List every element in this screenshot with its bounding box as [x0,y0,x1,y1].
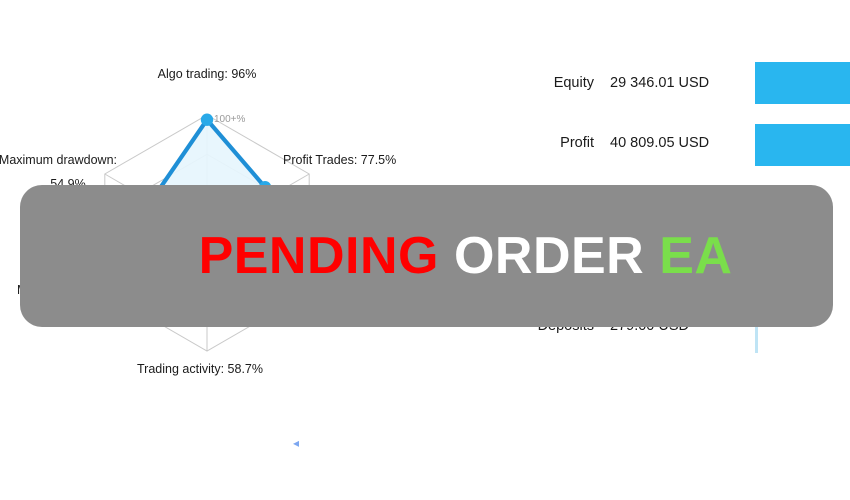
watermark-word-order: ORDER [454,227,644,285]
stat-value-equity: 29 346.01 USD [610,75,760,91]
radar-label-profit-trades: Profit Trades: 77.5% [283,153,396,167]
stat-row-profit: Profit 40 809.05 USD [470,128,760,158]
watermark-text: PENDING ORDER EA [199,230,733,282]
stat-label-profit: Profit [470,135,610,151]
radar-label-algo-trading: Algo trading: 96% [158,67,257,81]
watermark-banner: PENDING ORDER EA [20,185,833,327]
watermark-word-ea: EA [659,227,732,285]
radar-label-trading-activity: Trading activity: 58.7% [137,362,263,376]
bar-equity [755,62,850,104]
bottom-marker-icon: ◂ [293,437,301,449]
radar-label-maximum-drawdown-line1: Maximum drawdown: [0,153,117,167]
watermark-word-pending: PENDING [199,227,439,285]
bar-profit [755,124,850,166]
radar-tick-100: 100+% [214,114,246,125]
stat-label-equity: Equity [470,75,610,91]
dashboard-canvas: 100+% 50% 0% Algo trading: 96% Profit Tr… [0,0,850,500]
stat-value-profit: 40 809.05 USD [610,135,760,151]
stat-row-equity: Equity 29 346.01 USD [470,68,760,98]
